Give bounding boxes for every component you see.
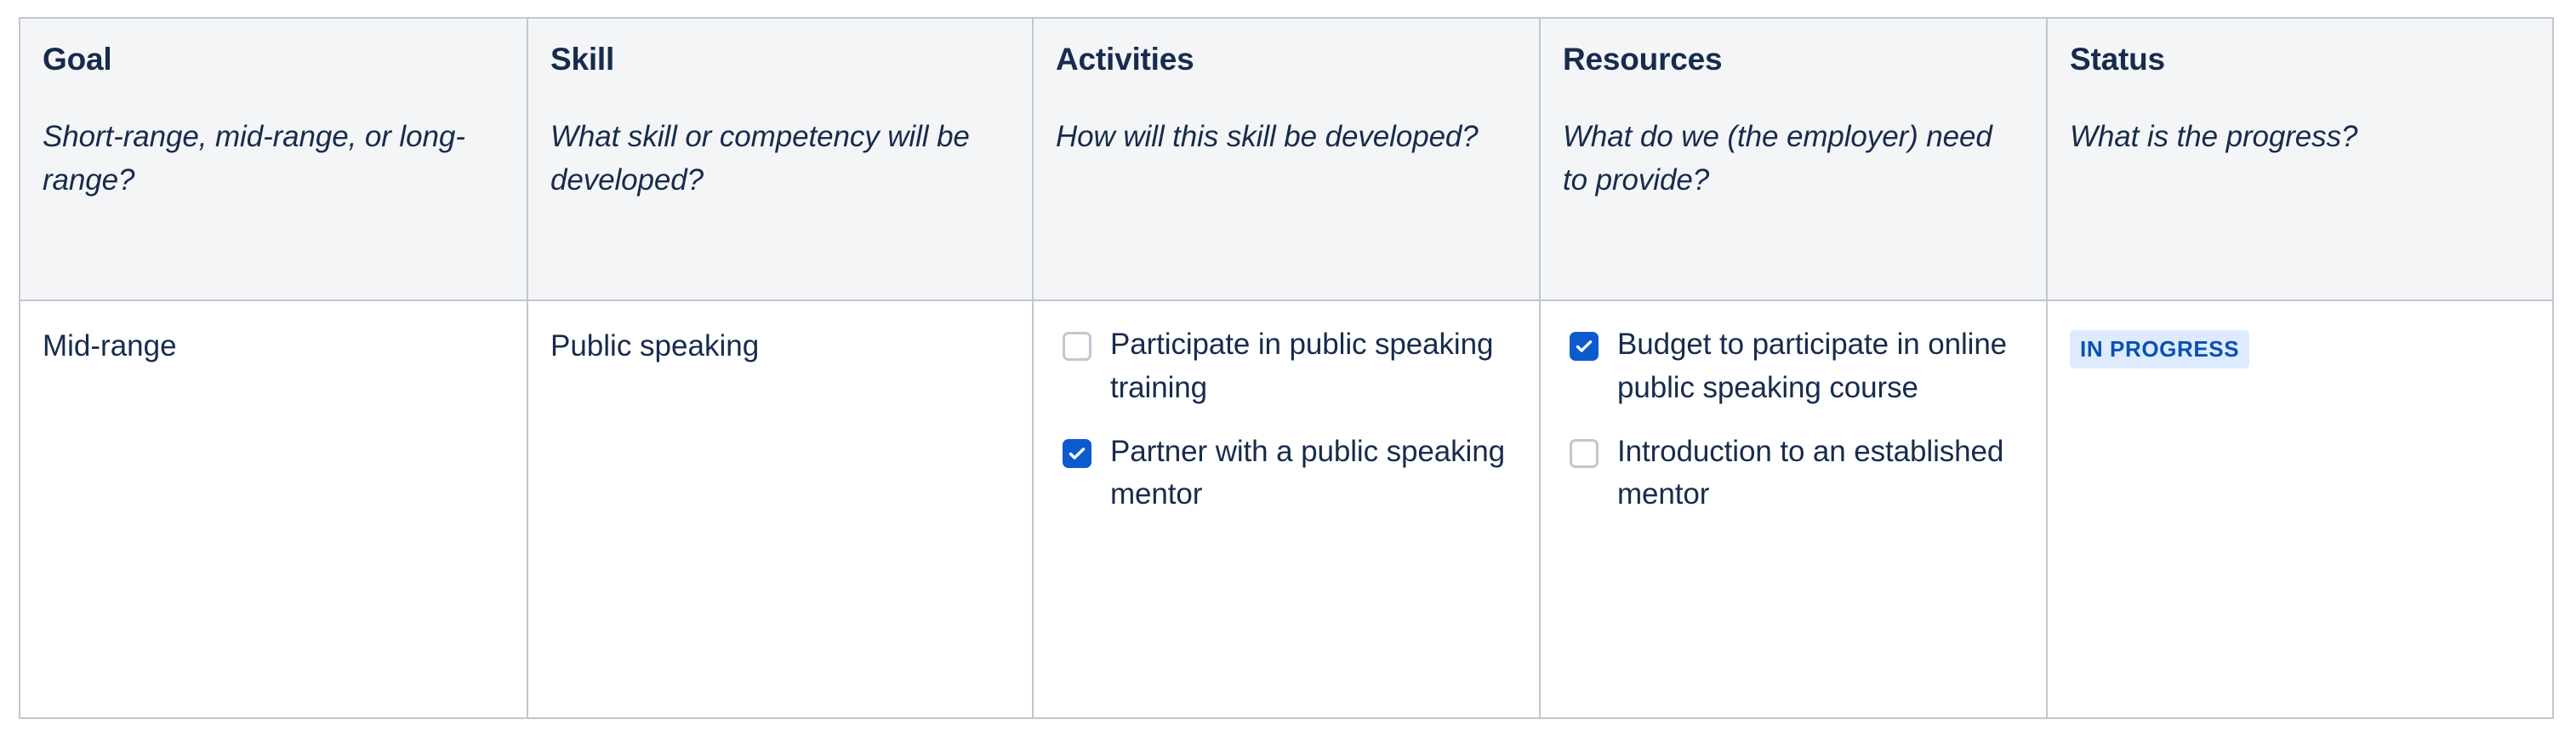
checkbox-unchecked-icon[interactable] xyxy=(1063,332,1091,361)
cell-status: IN PROGRESS xyxy=(2047,300,2553,718)
column-subtitle-activities: How will this skill be developed? xyxy=(1056,116,1517,159)
column-subtitle-skill: What skill or competency will be develop… xyxy=(550,116,1010,203)
goal-value: Mid-range xyxy=(43,323,504,368)
activity-label: Participate in public speaking training xyxy=(1110,323,1517,410)
checkbox-checked-icon[interactable] xyxy=(1063,439,1091,468)
development-plan-table: Goal Short-range, mid-range, or long-ran… xyxy=(19,17,2554,719)
table-header: Goal Short-range, mid-range, or long-ran… xyxy=(20,18,2553,300)
cell-resources: Budget to participate in online public s… xyxy=(1540,300,2047,718)
checkbox-unchecked-icon[interactable] xyxy=(1570,439,1599,468)
table-body: Mid-range Public speaking Participate in… xyxy=(20,300,2553,718)
resources-checklist: Budget to participate in online public s… xyxy=(1563,323,2024,517)
column-subtitle-resources: What do we (the employer) need to provid… xyxy=(1563,116,2024,203)
activities-checklist: Participate in public speaking training … xyxy=(1056,323,1517,517)
list-item[interactable]: Budget to participate in online public s… xyxy=(1570,323,2024,410)
resource-label: Budget to participate in online public s… xyxy=(1617,323,2024,410)
column-header-status: Status What is the progress? xyxy=(2047,18,2553,300)
column-subtitle-goal: Short-range, mid-range, or long-range? xyxy=(43,116,504,203)
column-title-status: Status xyxy=(2070,41,2530,78)
status-badge: IN PROGRESS xyxy=(2070,330,2249,368)
list-item[interactable]: Participate in public speaking training xyxy=(1063,323,1517,410)
column-title-resources: Resources xyxy=(1563,41,2024,78)
column-subtitle-status: What is the progress? xyxy=(2070,116,2530,159)
column-header-activities: Activities How will this skill be develo… xyxy=(1033,18,1540,300)
table-row: Mid-range Public speaking Participate in… xyxy=(20,300,2553,718)
header-row: Goal Short-range, mid-range, or long-ran… xyxy=(20,18,2553,300)
resource-label: Introduction to an established mentor xyxy=(1617,431,2024,517)
column-title-skill: Skill xyxy=(550,41,1010,78)
column-header-goal: Goal Short-range, mid-range, or long-ran… xyxy=(20,18,527,300)
page-root: Goal Short-range, mid-range, or long-ran… xyxy=(0,0,2576,742)
skill-value: Public speaking xyxy=(550,323,1010,368)
column-header-resources: Resources What do we (the employer) need… xyxy=(1540,18,2047,300)
list-item[interactable]: Partner with a public speaking mentor xyxy=(1063,431,1517,517)
cell-goal: Mid-range xyxy=(20,300,527,718)
cell-activities: Participate in public speaking training … xyxy=(1033,300,1540,718)
cell-skill: Public speaking xyxy=(527,300,1033,718)
list-item[interactable]: Introduction to an established mentor xyxy=(1570,431,2024,517)
column-header-skill: Skill What skill or competency will be d… xyxy=(527,18,1033,300)
checkbox-checked-icon[interactable] xyxy=(1570,332,1599,361)
column-title-goal: Goal xyxy=(43,41,504,78)
activity-label: Partner with a public speaking mentor xyxy=(1110,431,1517,517)
column-title-activities: Activities xyxy=(1056,41,1517,78)
